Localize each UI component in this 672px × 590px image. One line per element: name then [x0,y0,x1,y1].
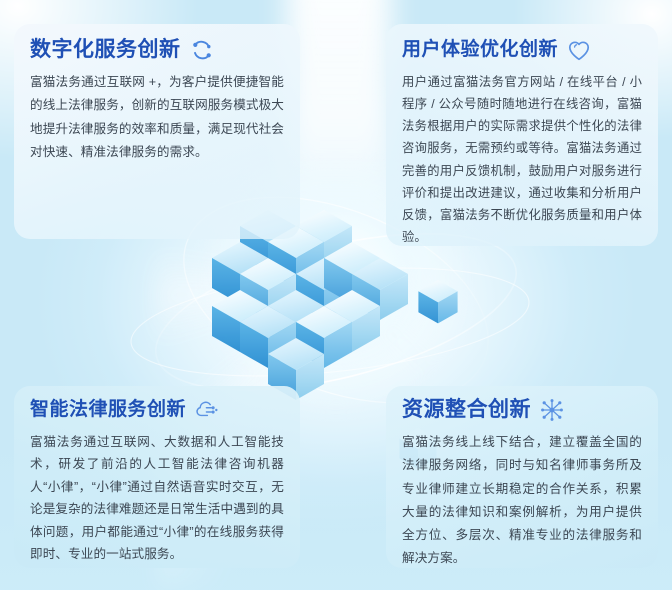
card-body: 富猫法务通过互联网、大数据和人工智能技术，研发了前沿的人工智能法律咨询机器人“小… [30,431,284,565]
card-body: 富猫法务线上线下结合，建立覆盖全国的法律服务网络，同时与知名律师事务所及专业律师… [402,431,642,571]
card-resource-integration-innovation: 资源整合创新 富猫法务线上线下结合，建立覆盖全国的 [386,386,658,568]
heart-icon [567,38,591,62]
card-title: 资源整合创新 [402,398,531,421]
card-title: 智能法律服务创新 [30,400,186,421]
feature-cards-page: 数字化服务创新 富猫法务通过互联网 +，为客户提供便捷智能的线上法律服务，创新的… [0,0,672,590]
card-header: 智能法律服务创新 [30,398,284,422]
card-body: 富猫法务通过互联网 +，为客户提供便捷智能的线上法律服务，创新的互联网服务模式极… [30,71,284,164]
card-digital-service-innovation: 数字化服务创新 富猫法务通过互联网 +，为客户提供便捷智能的线上法律服务，创新的… [14,24,300,239]
card-body: 用户通过富猫法务官方网站 / 在线平台 / 小程序 / 公众号随时随地进行在线咨… [402,71,642,248]
sync-circle-icon [190,38,214,62]
card-header: 用户体验优化创新 [402,38,642,62]
card-smart-legal-service-innovation: 智能法律服务创新 富猫法务通过互联网、大数据和人工智能技术，研发了前沿的人工智能… [14,386,300,568]
card-header: 数字化服务创新 [30,38,284,62]
ai-cloud-icon [195,398,219,422]
card-header: 资源整合创新 [402,398,642,422]
card-user-experience-innovation: 用户体验优化创新 用户通过富猫法务官方网站 / 在线平台 / 小程序 / 公众号… [386,24,658,246]
card-title: 数字化服务创新 [30,38,181,61]
network-nodes-icon [540,398,564,422]
card-title: 用户体验优化创新 [402,40,558,61]
